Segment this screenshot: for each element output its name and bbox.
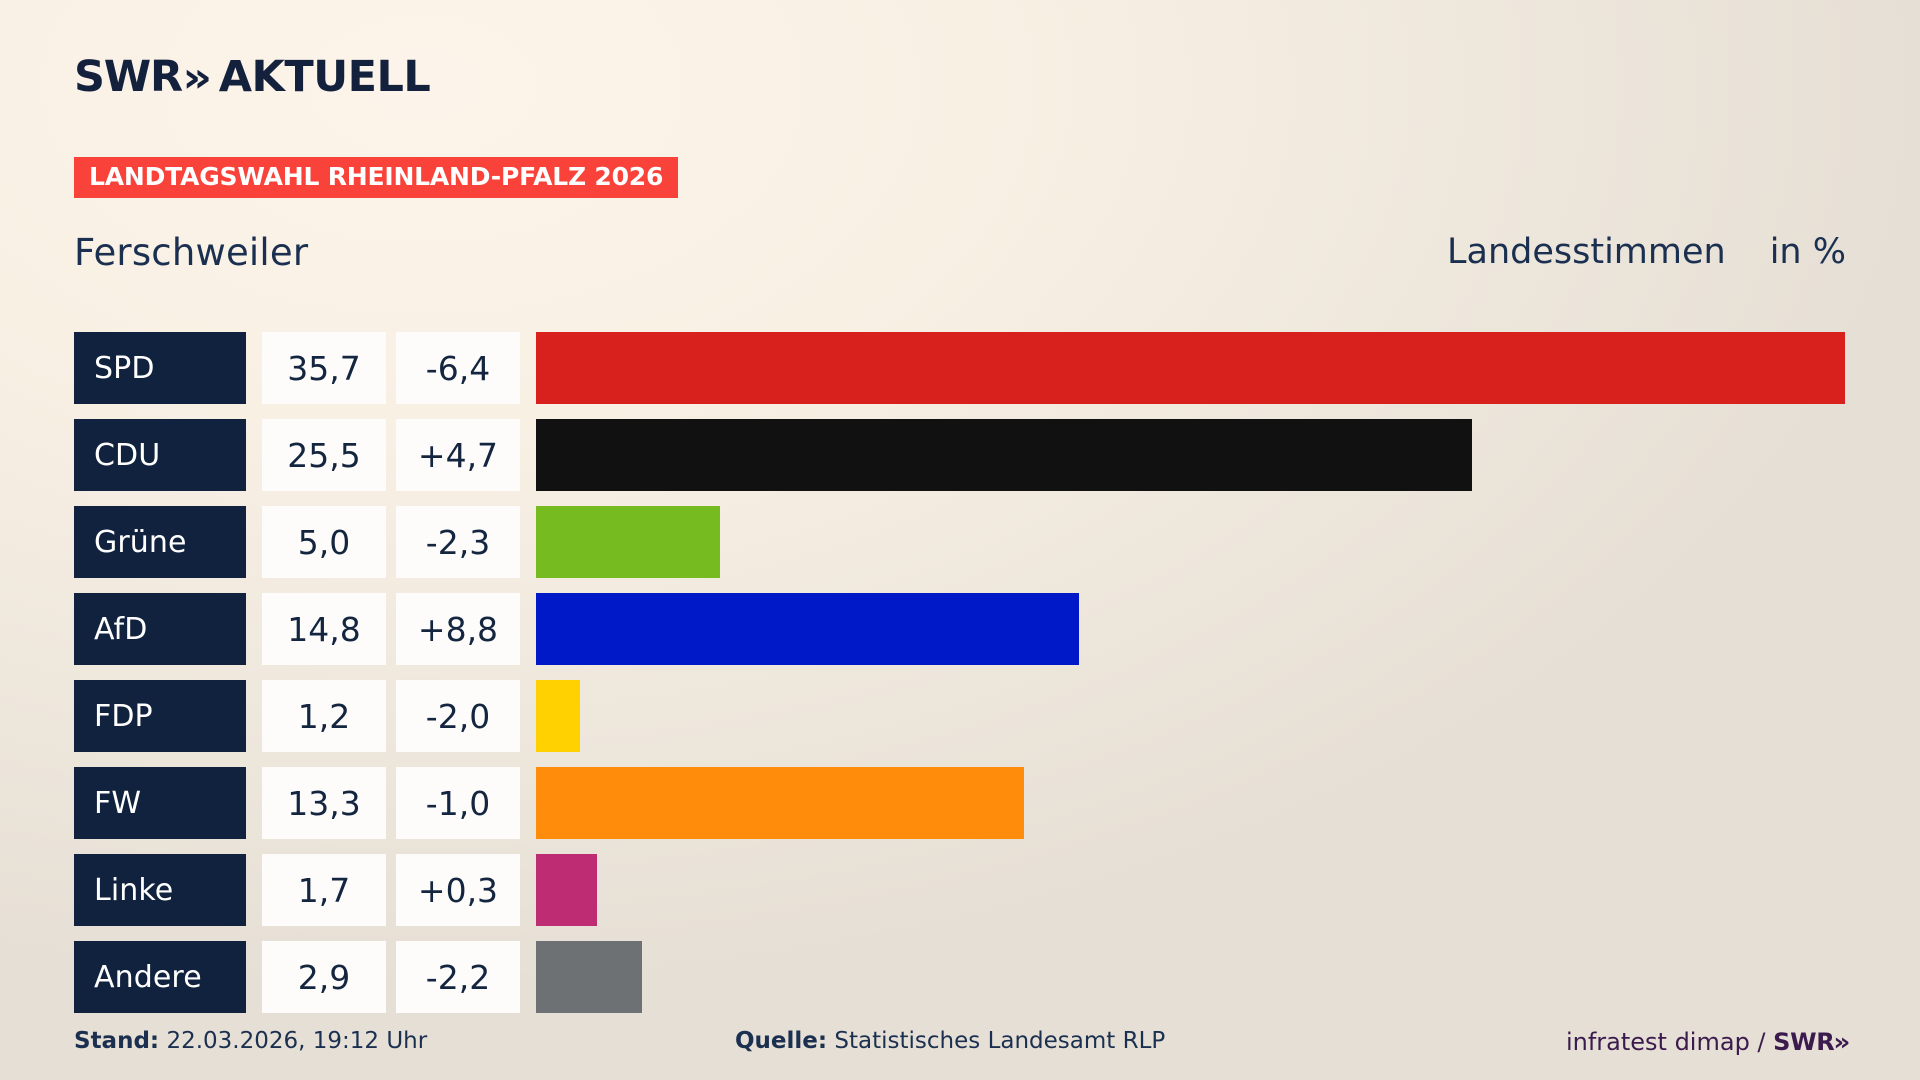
party-change-cell: -2,3	[396, 506, 520, 578]
table-row: FDP 1,2 -2,0	[74, 680, 1845, 766]
bar-track	[536, 506, 1845, 578]
swr-aktuell-logo: SWR » AKTUELL	[74, 56, 430, 99]
bar-track	[536, 767, 1845, 839]
unit-label: in %	[1770, 232, 1846, 272]
party-share-cell: 1,7	[262, 854, 386, 926]
party-share-cell: 1,2	[262, 680, 386, 752]
bar-track	[536, 941, 1845, 1013]
party-change-cell: +8,8	[396, 593, 520, 665]
footer-source: Quelle: Statistisches Landesamt RLP	[735, 1028, 1165, 1054]
table-row: AfD 14,8 +8,8	[74, 593, 1845, 679]
footer-credit: infratest dimap / SWR»	[1566, 1028, 1846, 1056]
results-table: SPD 35,7 -6,4 CDU 25,5 +4,7 Grüne 5,0	[74, 332, 1845, 1028]
party-label-cell: FW	[74, 767, 246, 839]
party-bar	[536, 506, 720, 578]
party-bar	[536, 419, 1472, 491]
credit-agency: infratest dimap /	[1566, 1028, 1773, 1056]
table-row: Linke 1,7 +0,3	[74, 854, 1845, 940]
party-change-cell: -2,0	[396, 680, 520, 752]
party-share-cell: 35,7	[262, 332, 386, 404]
party-change-cell: +0,3	[396, 854, 520, 926]
party-bar	[536, 767, 1024, 839]
bar-track	[536, 854, 1845, 926]
place-name: Ferschweiler	[74, 231, 308, 274]
party-share-cell: 2,9	[262, 941, 386, 1013]
party-share-cell: 14,8	[262, 593, 386, 665]
party-label-cell: CDU	[74, 419, 246, 491]
table-row: SPD 35,7 -6,4	[74, 332, 1845, 418]
bar-track	[536, 680, 1845, 752]
column-headers: Landesstimmen in %	[1447, 232, 1846, 272]
election-result-graphic: SWR » AKTUELL LANDTAGSWAHL RHEINLAND-PFA…	[0, 0, 1920, 1080]
source-label: Quelle:	[735, 1028, 827, 1054]
source-value: Statistisches Landesamt RLP	[834, 1028, 1165, 1054]
party-change-cell: -6,4	[396, 332, 520, 404]
party-bar	[536, 680, 580, 752]
party-share-cell: 25,5	[262, 419, 386, 491]
party-bar	[536, 854, 597, 926]
party-label-cell: SPD	[74, 332, 246, 404]
bar-track	[536, 593, 1845, 665]
party-change-cell: -1,0	[396, 767, 520, 839]
party-label-cell: AfD	[74, 593, 246, 665]
election-kicker-badge: LANDTAGSWAHL RHEINLAND-PFALZ 2026	[74, 157, 678, 198]
table-row: CDU 25,5 +4,7	[74, 419, 1845, 505]
party-bar	[536, 593, 1079, 665]
party-bar	[536, 332, 1845, 404]
footer: Stand: 22.03.2026, 19:12 Uhr Quelle: Sta…	[0, 1028, 1920, 1068]
party-label-cell: Grüne	[74, 506, 246, 578]
party-share-cell: 5,0	[262, 506, 386, 578]
logo-aktuell-text: AKTUELL	[219, 56, 431, 99]
party-share-cell: 13,3	[262, 767, 386, 839]
party-label-cell: Linke	[74, 854, 246, 926]
party-label-cell: FDP	[74, 680, 246, 752]
stand-label: Stand:	[74, 1028, 159, 1054]
table-row: Andere 2,9 -2,2	[74, 941, 1845, 1027]
logo-swr-text: SWR	[74, 56, 182, 99]
bar-track	[536, 332, 1845, 404]
subheader-row: Ferschweiler Landesstimmen in %	[74, 227, 1846, 277]
bar-track	[536, 419, 1845, 491]
vote-type-label: Landesstimmen	[1447, 232, 1726, 272]
party-change-cell: +4,7	[396, 419, 520, 491]
table-row: FW 13,3 -1,0	[74, 767, 1845, 853]
stand-value: 22.03.2026, 19:12 Uhr	[166, 1028, 427, 1054]
party-label-cell: Andere	[74, 941, 246, 1013]
double-chevron-icon: »	[182, 57, 206, 99]
party-change-cell: -2,2	[396, 941, 520, 1013]
credit-swr: SWR	[1773, 1028, 1834, 1056]
party-bar	[536, 941, 642, 1013]
table-row: Grüne 5,0 -2,3	[74, 506, 1845, 592]
double-chevron-icon: »	[1834, 1028, 1847, 1056]
footer-timestamp: Stand: 22.03.2026, 19:12 Uhr	[74, 1028, 427, 1054]
